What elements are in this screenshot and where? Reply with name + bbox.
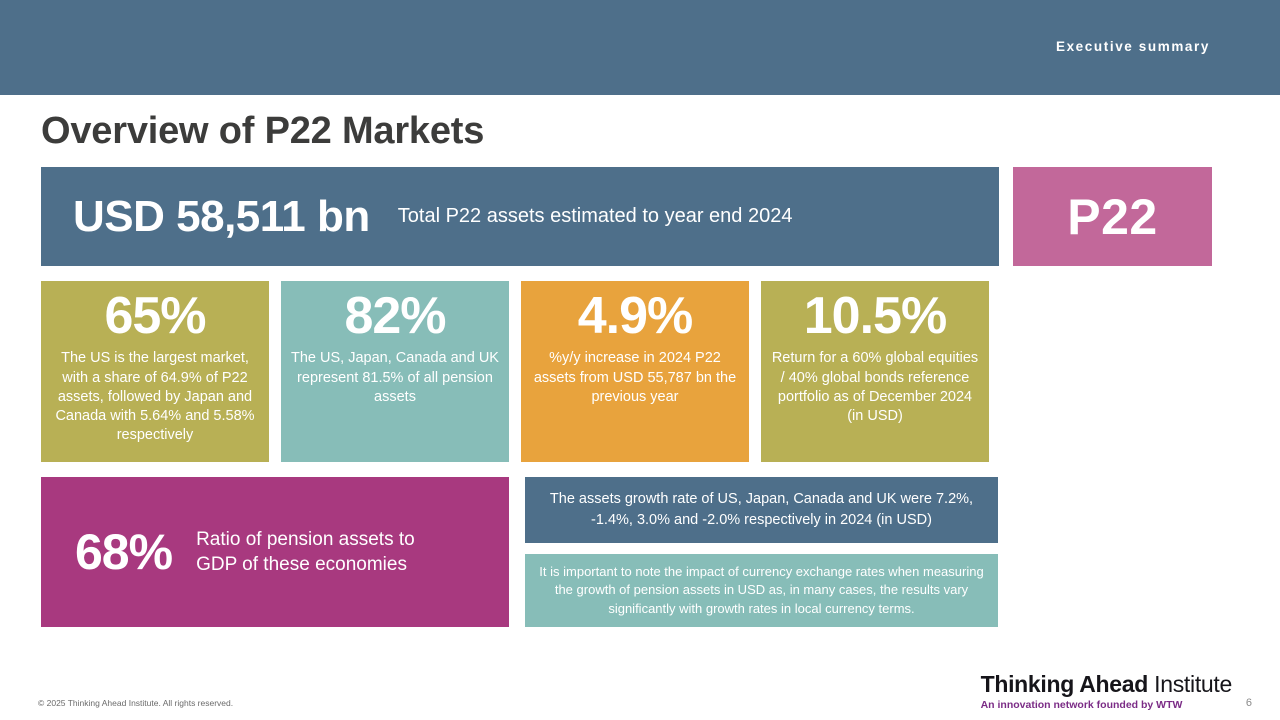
- stat-card-value: 82%: [344, 287, 445, 345]
- logo-wordmark-light: Institute: [1154, 671, 1232, 697]
- stat-card: 82% The US, Japan, Canada and UK represe…: [281, 281, 509, 462]
- total-assets-description: Total P22 assets estimated to year end 2…: [398, 205, 793, 228]
- stat-card: 65% The US is the largest market, with a…: [41, 281, 269, 462]
- pension-gdp-ratio-card: 68% Ratio of pension assets to GDP of th…: [41, 477, 509, 627]
- stat-card: 4.9% %y/y increase in 2024 P22 assets fr…: [521, 281, 749, 462]
- header-band: Executive summary: [0, 0, 1280, 95]
- currency-impact-note: It is important to note the impact of cu…: [525, 554, 998, 627]
- stat-card-value: 65%: [104, 287, 205, 345]
- stat-card-value: 10.5%: [804, 287, 946, 345]
- stat-card-description: The US, Japan, Canada and UK represent 8…: [291, 349, 499, 407]
- pension-gdp-ratio-description: Ratio of pension assets to GDP of these …: [196, 527, 456, 578]
- slide: Executive summary Overview of P22 Market…: [0, 0, 1280, 720]
- total-assets-value: USD 58,511 bn: [73, 192, 370, 242]
- stat-card-description: Return for a 60% global equities / 40% g…: [771, 349, 979, 426]
- logo-wordmark: Thinking Ahead Institute: [981, 671, 1232, 698]
- pension-gdp-ratio-value: 68%: [75, 523, 172, 581]
- p22-badge: P22: [1013, 167, 1212, 266]
- p22-badge-label: P22: [1067, 188, 1157, 246]
- growth-rate-note: The assets growth rate of US, Japan, Can…: [525, 477, 998, 543]
- logo-wordmark-bold: Thinking Ahead: [981, 671, 1148, 697]
- thinking-ahead-institute-logo: Thinking Ahead Institute An innovation n…: [981, 671, 1232, 711]
- page-title: Overview of P22 Markets: [41, 110, 484, 153]
- copyright-text: © 2025 Thinking Ahead Institute. All rig…: [38, 698, 233, 708]
- stat-card-value: 4.9%: [578, 287, 693, 345]
- page-number: 6: [1246, 697, 1252, 709]
- stat-card-description: %y/y increase in 2024 P22 assets from US…: [531, 349, 739, 407]
- stat-card: 10.5% Return for a 60% global equities /…: [761, 281, 989, 462]
- total-assets-banner: USD 58,511 bn Total P22 assets estimated…: [41, 167, 999, 266]
- logo-tagline: An innovation network founded by WTW: [981, 699, 1232, 711]
- stat-card-row: 65% The US is the largest market, with a…: [41, 281, 999, 462]
- header-section-label: Executive summary: [1056, 39, 1210, 54]
- stat-card-description: The US is the largest market, with a sha…: [51, 349, 259, 445]
